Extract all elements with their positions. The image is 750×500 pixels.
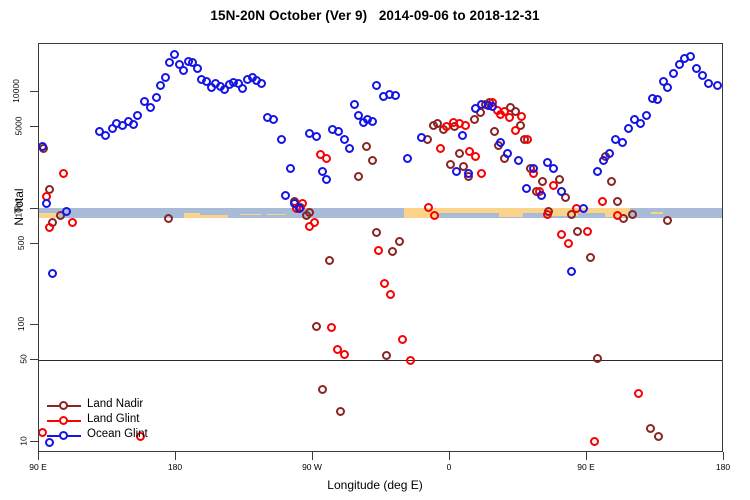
data-point: [557, 230, 566, 239]
y-axis-tick: [30, 441, 38, 442]
data-point: [179, 66, 188, 75]
data-point: [624, 124, 633, 133]
data-point: [59, 169, 68, 178]
data-point: [165, 58, 174, 67]
data-point: [277, 135, 286, 144]
y-axis-tick-label: 100: [0, 317, 28, 331]
data-point: [669, 69, 678, 78]
data-point: [713, 81, 722, 90]
data-point: [704, 79, 713, 88]
data-point: [593, 167, 602, 176]
data-point: [628, 210, 637, 219]
data-point: [238, 84, 247, 93]
reference-line: [39, 360, 723, 361]
data-point: [322, 175, 331, 184]
data-point: [477, 169, 486, 178]
data-point: [156, 81, 165, 90]
legend-marker-icon: [59, 431, 68, 440]
y-axis-tick: [30, 91, 38, 92]
data-point: [557, 187, 566, 196]
data-point: [388, 247, 397, 256]
data-point: [458, 131, 467, 140]
y-axis-title: N Total: [12, 162, 26, 252]
data-point: [374, 246, 383, 255]
data-point: [164, 214, 173, 223]
data-point: [646, 424, 655, 433]
data-point: [455, 149, 464, 158]
data-point: [193, 64, 202, 73]
data-point: [573, 227, 582, 236]
data-point: [663, 83, 672, 92]
data-point: [511, 126, 520, 135]
data-point: [583, 227, 592, 236]
data-point: [152, 93, 161, 102]
data-point: [325, 256, 334, 265]
x-axis-tick: [586, 452, 587, 460]
x-axis-tick-label: 180: [150, 462, 200, 472]
data-point: [312, 322, 321, 331]
data-point: [634, 389, 643, 398]
data-point: [345, 144, 354, 153]
data-point: [517, 112, 526, 121]
data-point: [586, 253, 595, 262]
x-axis-tick-label: 90 E: [13, 462, 63, 472]
data-point: [567, 267, 576, 276]
x-axis-tick-label: 0: [424, 462, 474, 472]
y-axis-tick: [30, 208, 38, 209]
legend-marker-icon: [59, 416, 68, 425]
data-point: [598, 197, 607, 206]
data-point: [590, 437, 599, 446]
data-point: [549, 181, 558, 190]
data-point: [653, 95, 662, 104]
data-point: [464, 169, 473, 178]
data-point: [523, 135, 532, 144]
x-axis-title: Longitude (deg E): [0, 478, 750, 492]
data-point: [503, 149, 512, 158]
data-point: [368, 156, 377, 165]
data-point: [538, 177, 547, 186]
data-point: [38, 142, 47, 151]
x-axis-tick-label: 90 W: [287, 462, 337, 472]
data-point: [129, 120, 138, 129]
data-point: [45, 223, 54, 232]
data-point: [613, 197, 622, 206]
x-axis-tick: [175, 452, 176, 460]
legend-label: Land Nadir: [87, 398, 143, 410]
map-land-segment: [651, 212, 663, 214]
data-point: [642, 111, 651, 120]
map-land-segment: [184, 213, 201, 217]
y-axis-tick-label: 50: [0, 352, 28, 366]
data-point: [48, 269, 57, 278]
data-point: [372, 228, 381, 237]
data-point: [522, 184, 531, 193]
data-point: [354, 172, 363, 181]
data-point: [368, 117, 377, 126]
y-axis-tick: [30, 324, 38, 325]
data-point: [430, 211, 439, 220]
x-axis-tick: [449, 452, 450, 460]
data-point: [336, 407, 345, 416]
data-point: [362, 142, 371, 151]
data-point: [654, 432, 663, 441]
data-point: [38, 428, 47, 437]
y-axis-tick-label: 10000: [0, 84, 28, 98]
map-land-segment: [200, 215, 227, 218]
legend-marker-icon: [59, 401, 68, 410]
data-point: [452, 167, 461, 176]
data-point: [281, 191, 290, 200]
data-point: [146, 103, 155, 112]
y-axis-tick: [30, 126, 38, 127]
legend-label: Land Glint: [87, 413, 139, 425]
data-point: [417, 133, 426, 142]
y-axis-tick: [30, 359, 38, 360]
data-point: [310, 218, 319, 227]
data-point: [636, 119, 645, 128]
x-axis-tick-label: 180: [698, 462, 748, 472]
data-point: [286, 164, 295, 173]
data-point: [607, 177, 616, 186]
data-point: [322, 154, 331, 163]
data-point: [318, 385, 327, 394]
data-point: [686, 52, 695, 61]
data-point: [403, 154, 412, 163]
y-axis-tick-label: 10: [0, 434, 28, 448]
data-point: [618, 138, 627, 147]
chart-root: 15N-20N October (Ver 9) 2014-09-06 to 20…: [0, 0, 750, 500]
map-land-segment: [240, 214, 261, 216]
data-point: [549, 164, 558, 173]
data-point: [170, 50, 179, 59]
data-point: [62, 207, 71, 216]
data-point: [593, 354, 602, 363]
x-axis-tick: [38, 452, 39, 460]
data-point: [471, 152, 480, 161]
data-point: [269, 115, 278, 124]
x-axis-tick-label: 90 E: [561, 462, 611, 472]
map-land-segment: [499, 208, 523, 217]
data-point: [537, 191, 546, 200]
data-point: [391, 91, 400, 100]
data-point: [45, 438, 54, 447]
plot-area: [38, 43, 723, 452]
data-point: [461, 121, 470, 130]
map-land-segment: [267, 214, 285, 215]
data-point: [406, 356, 415, 365]
data-point: [543, 210, 552, 219]
chart-title: 15N-20N October (Ver 9) 2014-09-06 to 20…: [0, 8, 750, 23]
data-point: [514, 156, 523, 165]
y-axis-tick: [30, 243, 38, 244]
data-point: [350, 100, 359, 109]
data-point: [133, 111, 142, 120]
data-point: [257, 79, 266, 88]
data-point: [386, 290, 395, 299]
data-point: [605, 149, 614, 158]
data-point: [382, 351, 391, 360]
y-axis-tick-label: 5000: [0, 119, 28, 133]
legend-label: Ocean Glint: [87, 428, 148, 440]
data-point: [398, 335, 407, 344]
data-point: [68, 218, 77, 227]
data-point: [395, 237, 404, 246]
data-point: [327, 323, 336, 332]
map-land-segment: [438, 208, 499, 213]
x-axis-tick: [312, 452, 313, 460]
data-point: [663, 216, 672, 225]
data-point: [372, 81, 381, 90]
data-point: [564, 239, 573, 248]
data-point: [161, 73, 170, 82]
data-point: [436, 144, 445, 153]
x-axis-tick: [723, 452, 724, 460]
data-point: [496, 138, 505, 147]
data-point: [490, 127, 499, 136]
data-point: [312, 132, 321, 141]
data-point: [340, 350, 349, 359]
data-point: [505, 113, 514, 122]
data-point: [380, 279, 389, 288]
